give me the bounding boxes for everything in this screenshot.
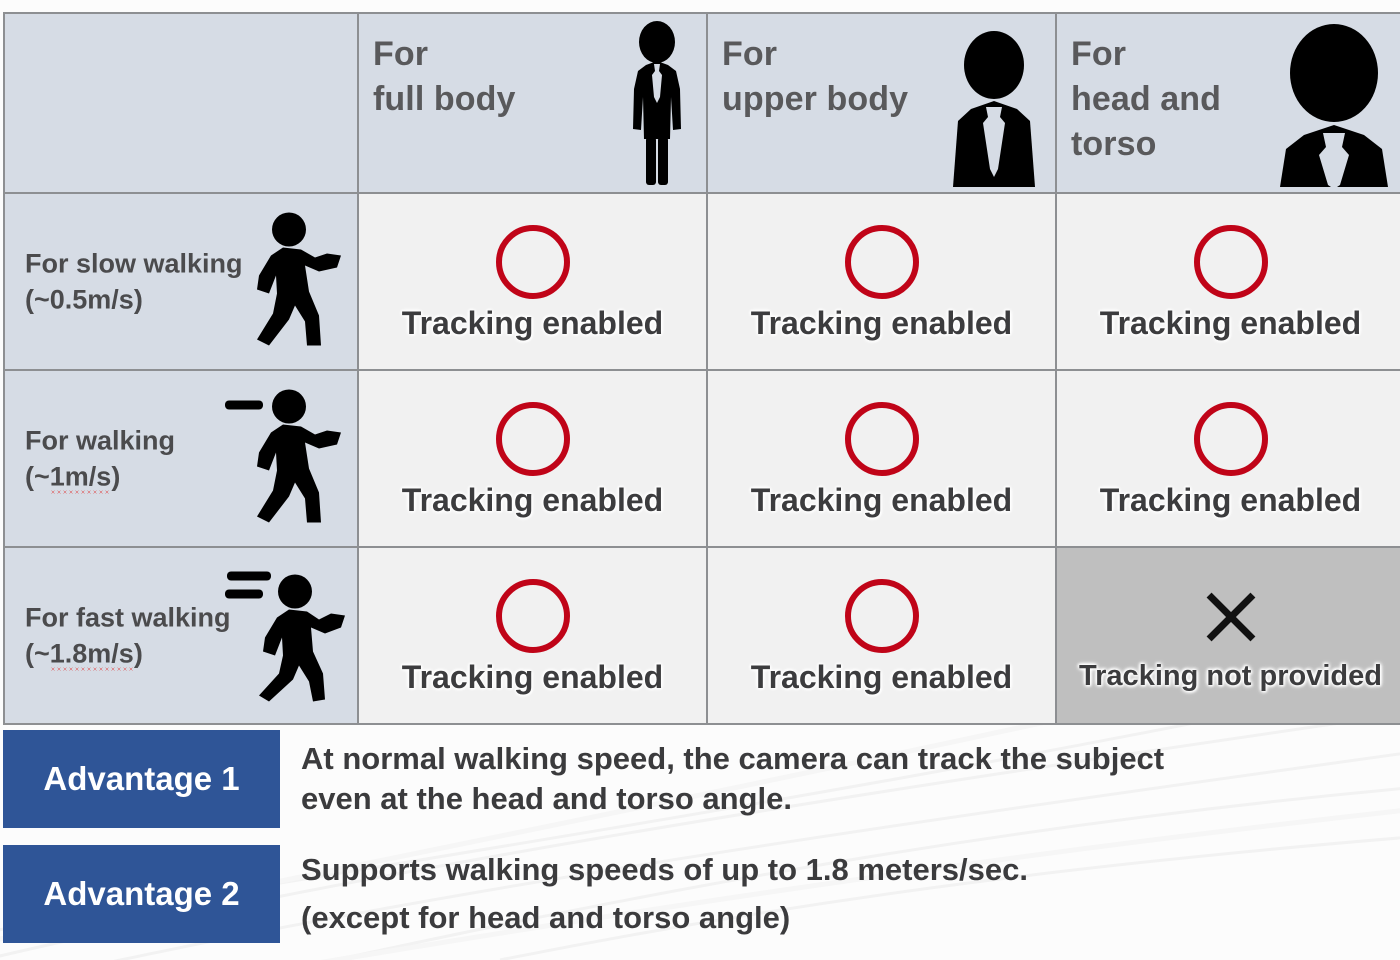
table-row: For fast walking(~1.8m/s) — [4, 547, 1400, 724]
advantage-1-text: At normal walking speed, the camera can … — [280, 730, 1396, 828]
cell-fast-head-torso: Tracking not provided — [1056, 547, 1400, 724]
table-row: For slow walking(~0.5m/s) Trackin — [4, 193, 1400, 370]
speed-line — [227, 571, 271, 580]
advantage-2-badge: Advantage 2 — [3, 845, 280, 943]
table-row: For walking(~1m/s) — [4, 370, 1400, 547]
advantage-2-text: Supports walking speeds of up to 1.8 met… — [280, 845, 1396, 943]
person-head-torso-icon — [1272, 17, 1396, 192]
person-full-body-icon — [616, 17, 698, 192]
cell-status-label: Tracking enabled — [402, 661, 663, 693]
column-header-upper-body: For upper body — [707, 13, 1056, 193]
advantage-row-2: Advantage 2 Supports walking speeds of u… — [3, 845, 1396, 943]
row-header-slow-walking: For slow walking(~0.5m/s) — [4, 193, 358, 370]
table-header-row: For full body — [4, 13, 1400, 193]
table-corner-cell — [4, 13, 358, 193]
column-header-label: For upper body — [722, 32, 908, 122]
cell-status-label: Tracking enabled — [1100, 307, 1361, 339]
circle-enabled-icon — [1194, 402, 1268, 476]
row-header-label: For fast walking(~1.8m/s) — [25, 599, 231, 672]
column-header-head-and-torso: For head and torso — [1056, 13, 1400, 193]
circle-enabled-icon — [1194, 225, 1268, 299]
cell-status-label: Tracking enabled — [402, 484, 663, 516]
cell-slow-head-torso: Tracking enabled — [1056, 193, 1400, 370]
cell-slow-upper-body: Tracking enabled — [707, 193, 1056, 370]
row-header-label: For walking(~1m/s) — [25, 422, 175, 495]
cell-status-label: Tracking enabled — [402, 307, 663, 339]
cell-fast-full-body: Tracking enabled — [358, 547, 707, 724]
circle-enabled-icon — [845, 225, 919, 299]
cell-status-label: Tracking enabled — [751, 307, 1012, 339]
slide-canvas: For full body — [0, 0, 1400, 960]
row-header-label: For slow walking(~0.5m/s) — [25, 245, 243, 318]
advantage-1-badge: Advantage 1 — [3, 730, 280, 828]
circle-enabled-icon — [496, 225, 570, 299]
tracking-capability-matrix: For full body — [3, 12, 1400, 725]
circle-enabled-icon — [845, 402, 919, 476]
cell-status-label: Tracking not provided — [1079, 662, 1382, 691]
cell-status-label: Tracking enabled — [751, 484, 1012, 516]
walking-person-fast-icon — [225, 563, 351, 708]
column-header-label: For head and torso — [1071, 32, 1221, 168]
person-upper-body-icon — [941, 17, 1047, 192]
speed-line — [225, 589, 263, 598]
circle-enabled-icon — [496, 579, 570, 653]
cell-status-label: Tracking enabled — [1100, 484, 1361, 516]
advantage-row-1: Advantage 1 At normal walking speed, the… — [3, 730, 1396, 828]
circle-enabled-icon — [496, 402, 570, 476]
cell-walking-head-torso: Tracking enabled — [1056, 370, 1400, 547]
walking-person-slow-icon — [243, 209, 351, 354]
column-header-full-body: For full body — [358, 13, 707, 193]
row-header-fast-walking: For fast walking(~1.8m/s) — [4, 547, 358, 724]
walking-person-normal-icon — [225, 386, 351, 531]
cell-slow-full-body: Tracking enabled — [358, 193, 707, 370]
cell-walking-upper-body: Tracking enabled — [707, 370, 1056, 547]
column-header-label: For full body — [373, 32, 516, 122]
cross-disabled-icon — [1194, 580, 1268, 654]
row-header-walking: For walking(~1m/s) — [4, 370, 358, 547]
circle-enabled-icon — [845, 579, 919, 653]
cell-fast-upper-body: Tracking enabled — [707, 547, 1056, 724]
cell-walking-full-body: Tracking enabled — [358, 370, 707, 547]
cell-status-label: Tracking enabled — [751, 661, 1012, 693]
speed-line — [225, 400, 263, 409]
